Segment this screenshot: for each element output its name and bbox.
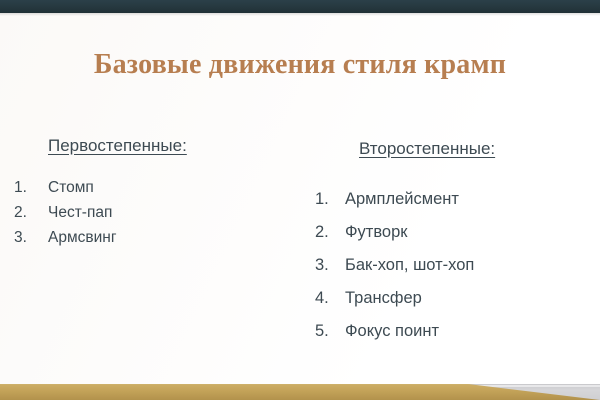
slide-title: Базовые движения стиля крамп — [0, 49, 600, 81]
list-item-number: 3. — [315, 249, 345, 282]
list-item: 1. Армплейсмент — [315, 183, 600, 216]
list-item: 2. Чест-пап — [14, 200, 295, 225]
secondary-movements-list: 1. Армплейсмент 2. Футворк 3. Бак-хоп, ш… — [300, 183, 600, 348]
list-item-number: 5. — [315, 315, 345, 348]
primary-movements-list: 1. Стомп 2. Чест-пап 3. Армсвинг — [0, 175, 295, 250]
list-item-label: Армсвинг — [48, 225, 116, 250]
list-item: 3. Армсвинг — [14, 225, 295, 250]
list-item: 3. Бак-хоп, шот-хоп — [315, 249, 600, 282]
presentation-slide: Базовые движения стиля крамп Первостепен… — [0, 0, 600, 400]
secondary-movements-heading: Второстепенные: — [300, 139, 600, 159]
secondary-movements-column: Второстепенные: 1. Армплейсмент 2. Футво… — [300, 139, 600, 348]
slide-bottom-gold-band-highlight — [0, 384, 470, 385]
list-item-label: Бак-хоп, шот-хоп — [345, 249, 474, 282]
list-item-label: Футворк — [345, 216, 408, 249]
list-item-label: Чест-пап — [48, 200, 112, 225]
list-item-label: Армплейсмент — [345, 183, 459, 216]
list-item-label: Трансфер — [345, 282, 422, 315]
list-item-label: Фокус поинт — [345, 315, 439, 348]
primary-movements-column: Первостепенные: 1. Стомп 2. Чест-пап 3. … — [0, 136, 295, 250]
list-item-label: Стомп — [48, 175, 94, 200]
list-item: 2. Футворк — [315, 216, 600, 249]
slide-top-accent-bar — [0, 0, 600, 13]
list-item: 1. Стомп — [14, 175, 295, 200]
list-item: 5. Фокус поинт — [315, 315, 600, 348]
list-item-number: 2. — [315, 216, 345, 249]
slide-top-accent-bar-shadow — [0, 13, 600, 16]
list-item-number: 1. — [14, 175, 48, 200]
list-item-number: 4. — [315, 282, 345, 315]
list-item-number: 3. — [14, 225, 48, 250]
primary-movements-heading: Первостепенные: — [0, 136, 295, 156]
list-item-number: 2. — [14, 200, 48, 225]
list-item: 4. Трансфер — [315, 282, 600, 315]
list-item-number: 1. — [315, 183, 345, 216]
